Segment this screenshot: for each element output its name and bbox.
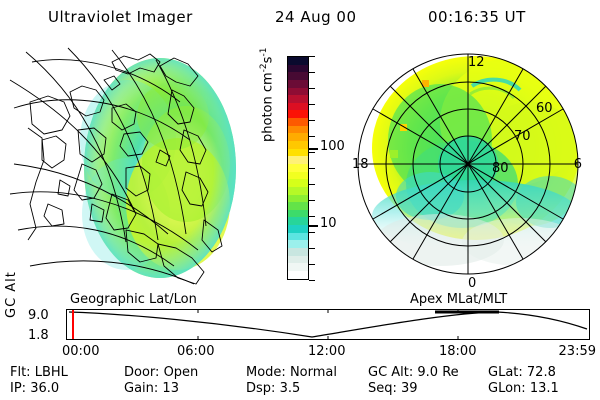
- colorbar-tick: [309, 216, 315, 217]
- colorbar-segment: [288, 179, 308, 187]
- colorbar-tick: [309, 184, 315, 185]
- status-glat-value: 72.8: [527, 365, 556, 380]
- status-glat-label: GLat:: [488, 365, 523, 380]
- colorbar-tick: [309, 152, 315, 153]
- status-door-value: Open: [164, 365, 199, 380]
- status-gcalt-label: GC Alt:: [368, 365, 413, 380]
- geographic-image-panel: [8, 44, 256, 290]
- colorbar-segment: [288, 110, 308, 118]
- colorbar-segment: [288, 141, 308, 149]
- status-dsp: Dsp: 3.5: [246, 381, 300, 396]
- status-glat: GLat: 72.8: [488, 365, 556, 380]
- colorbar-tick: [309, 56, 315, 57]
- mlt-label-18: 18: [352, 157, 369, 172]
- status-seq: Seq: 39: [368, 381, 418, 396]
- status-gain-label: Gain:: [124, 381, 158, 396]
- colorbar-segment: [288, 118, 308, 126]
- colorbar-segment: [288, 263, 308, 271]
- orbit-xtick-label: 23:59: [559, 344, 596, 359]
- colorbar-tick: [309, 200, 315, 201]
- colorbar-tick: [309, 232, 315, 233]
- colorbar-tick-label: 100: [320, 139, 345, 154]
- orbit-xtick-label: 06:00: [177, 344, 214, 359]
- colorbar-major-tick: [309, 148, 318, 150]
- mlat-label-60: 60: [536, 101, 553, 116]
- colorbar-unit-exp2: -1: [259, 48, 269, 57]
- status-mode: Mode: Normal: [246, 365, 337, 380]
- status-flt: Flt: LBHL: [10, 365, 68, 380]
- colorbar-axis-label: photon cm-2s-1: [259, 120, 275, 142]
- apex-polar-svg: 12 6 0 18 60 70 80: [344, 44, 592, 290]
- colorbar-tick: [309, 136, 315, 137]
- mlt-spokes: [358, 54, 578, 274]
- colorbar-tick: [309, 72, 315, 73]
- status-glon-value: 13.1: [530, 381, 559, 396]
- right-panel-caption: Apex MLat/MLT: [410, 292, 507, 307]
- mlat-label-80: 80: [492, 161, 509, 176]
- uvi-summary-plot: Ultraviolet Imager 24 Aug 00 00:16:35 UT: [0, 0, 600, 400]
- status-ip-label: IP:: [10, 381, 26, 396]
- colorbar-segment: [288, 217, 308, 225]
- status-flt-label: Flt:: [10, 365, 31, 380]
- status-door-label: Door:: [124, 365, 159, 380]
- page-title: Ultraviolet Imager: [48, 8, 193, 26]
- status-flt-value: LBHL: [35, 365, 68, 380]
- colorbar-segment: [288, 65, 308, 73]
- colorbar-segment: [288, 202, 308, 210]
- colorbar-segment: [288, 187, 308, 195]
- status-ip: IP: 36.0: [10, 381, 59, 396]
- colorbar-unit-mid: s: [260, 57, 275, 64]
- status-glon-label: GLon:: [488, 381, 526, 396]
- colorbar-segment: [288, 133, 308, 141]
- colorbar-segment: [288, 248, 308, 256]
- colorbar-segment: [288, 80, 308, 88]
- status-ip-value: 36.0: [30, 381, 59, 396]
- colorbar-gradient: [287, 56, 309, 280]
- colorbar-tick: [309, 104, 315, 105]
- colorbar-tick: [309, 168, 315, 169]
- status-seq-value: 39: [401, 381, 418, 396]
- colorbar-segment: [288, 88, 308, 96]
- colorbar-segment: [288, 210, 308, 218]
- colorbar-unit-main: photon cm: [260, 72, 275, 142]
- observation-date: 24 Aug 00: [275, 8, 357, 26]
- orbit-xtick-label: 00:00: [62, 344, 99, 359]
- orbit-xtick-label: 18:00: [439, 344, 476, 359]
- status-gcalt-value: 9.0 Re: [417, 365, 458, 380]
- status-gain: Gain: 13: [124, 381, 179, 396]
- orbit-y-axis-label: GC Alt: [4, 302, 19, 318]
- orbit-ytick-low: 1.8: [28, 328, 49, 343]
- mlt-label-6: 6: [574, 157, 582, 172]
- left-panel-caption: Geographic Lat/Lon: [70, 292, 197, 307]
- status-dsp-label: Dsp:: [246, 381, 275, 396]
- colorbar-segment: [288, 233, 308, 241]
- status-dsp-value: 3.5: [280, 381, 301, 396]
- orbit-ytick-high: 9.0: [28, 308, 49, 323]
- observation-time: 00:16:35 UT: [428, 8, 526, 26]
- colorbar-segment: [288, 149, 308, 157]
- colorbar-segment: [288, 172, 308, 180]
- colorbar-unit-exp1: -2: [259, 63, 269, 72]
- mlat-label-70: 70: [514, 129, 531, 144]
- orbit-xtick-label: 12:00: [308, 344, 345, 359]
- orbit-track-svg: [67, 310, 589, 339]
- colorbar-segment: [288, 240, 308, 248]
- colorbar-ticks: [309, 56, 317, 280]
- status-seq-label: Seq:: [368, 381, 397, 396]
- status-mode-value: Normal: [290, 365, 337, 380]
- colorbar-tick: [309, 280, 315, 281]
- colorbar-segment: [288, 103, 308, 111]
- orbit-altitude-chart: [66, 309, 590, 340]
- colorbar-tick: [309, 264, 315, 265]
- status-gain-value: 13: [162, 381, 179, 396]
- status-gcalt: GC Alt: 9.0 Re: [368, 365, 459, 380]
- colorbar-segment: [288, 126, 308, 134]
- status-door: Door: Open: [124, 365, 198, 380]
- colorbar-major-tick: [309, 225, 318, 227]
- colorbar-segment: [288, 72, 308, 80]
- colorbar-tick: [309, 248, 315, 249]
- colorbar-segment: [288, 57, 308, 65]
- mlt-label-0: 0: [468, 276, 476, 290]
- status-mode-label: Mode:: [246, 365, 286, 380]
- status-glon: GLon: 13.1: [488, 381, 559, 396]
- colorbar-segment: [288, 256, 308, 264]
- colorbar-segment: [288, 195, 308, 203]
- colorbar-segment: [288, 156, 308, 164]
- mlt-label-12: 12: [468, 55, 485, 70]
- colorbar-segment: [288, 95, 308, 103]
- colorbar-segment: [288, 225, 308, 233]
- colorbar-tick: [309, 120, 315, 121]
- colorbar-segment: [288, 164, 308, 172]
- colorbar-segment: [288, 271, 308, 279]
- colorbar-tick: [309, 88, 315, 89]
- apex-polar-panel: 12 6 0 18 60 70 80: [344, 44, 592, 290]
- colorbar-tick-label: 10: [320, 216, 337, 231]
- geographic-globe-svg: [8, 44, 256, 290]
